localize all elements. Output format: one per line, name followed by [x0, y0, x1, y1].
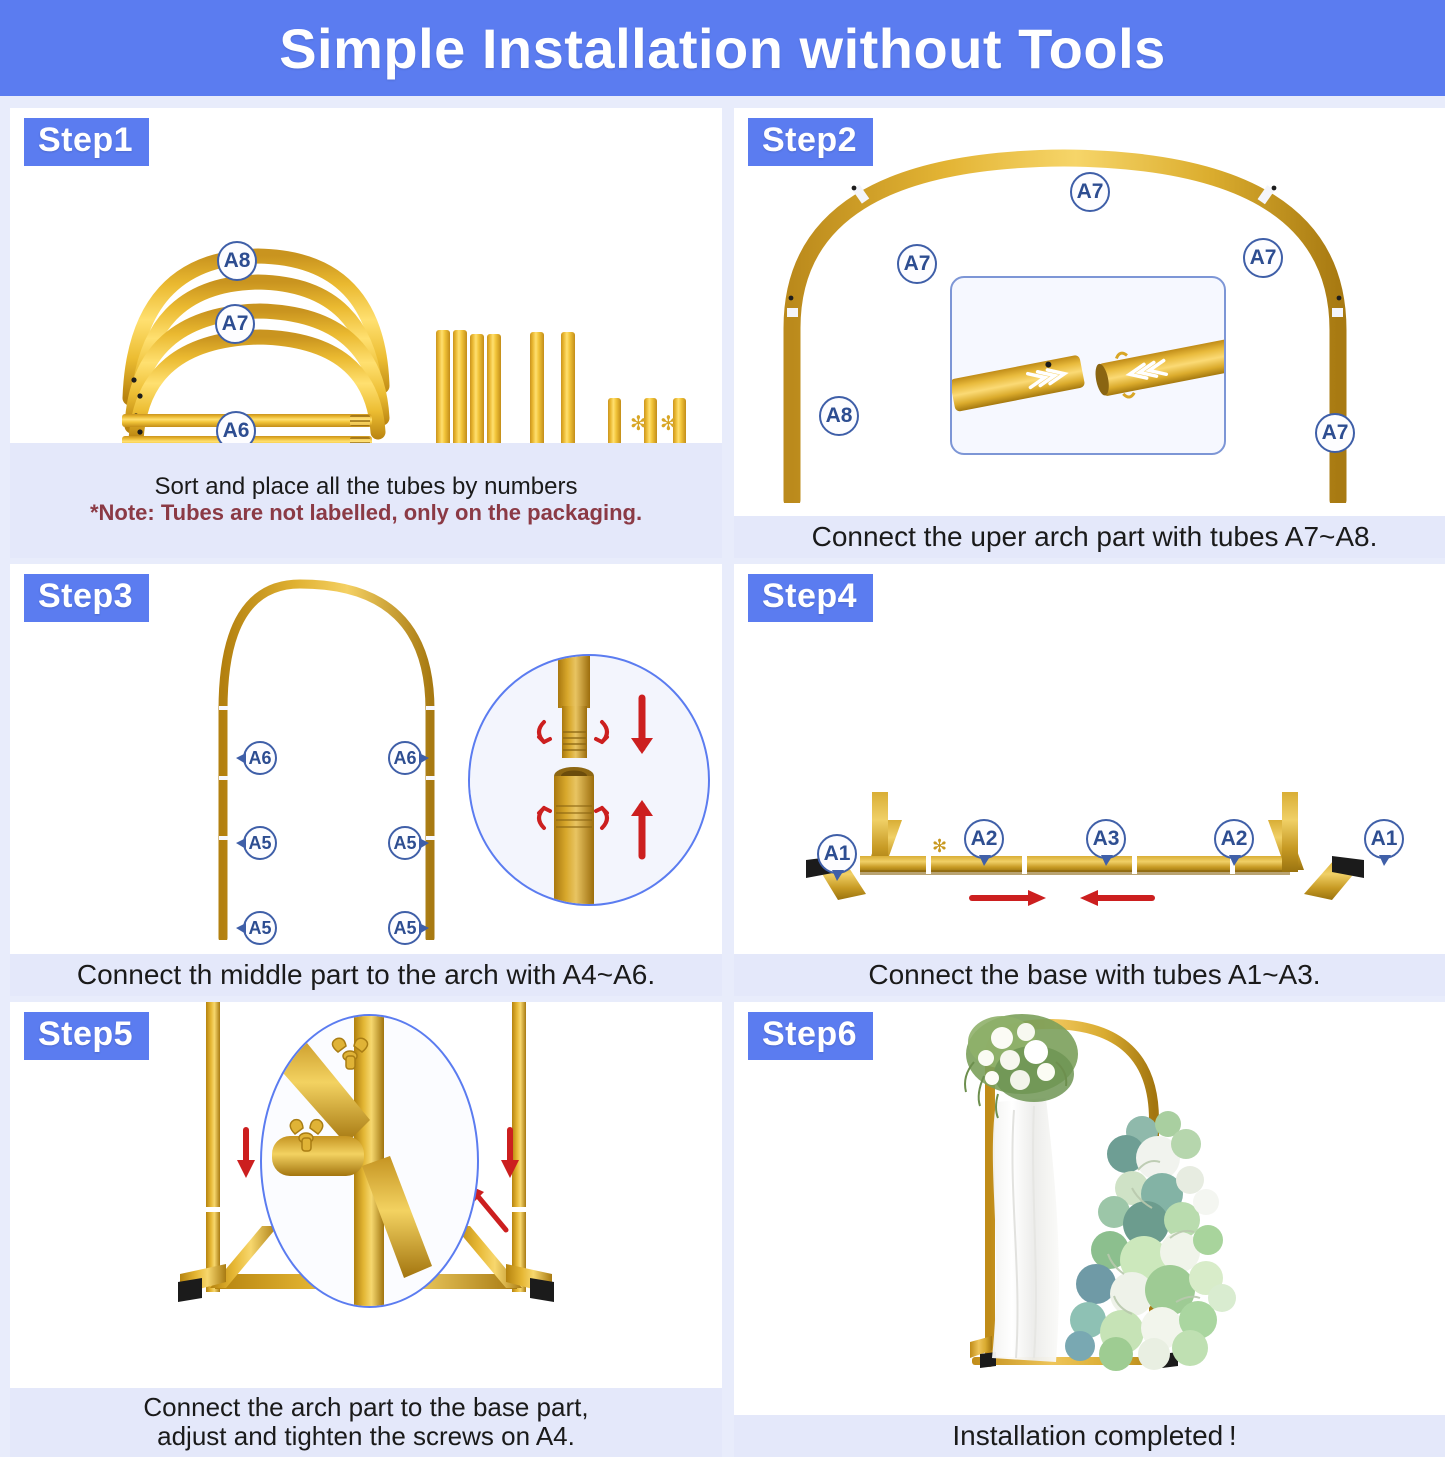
steps-grid: Step1	[0, 96, 1445, 1445]
step-badge-4: Step4	[748, 574, 873, 622]
joint-screw-inset	[260, 1014, 479, 1308]
part-label-a6: A6	[216, 411, 256, 443]
part-label-a7-lower-right: A7	[1315, 413, 1355, 453]
step-5-illustration: Step5	[10, 1002, 722, 1388]
step-caption-1: Sort and place all the tubes by numbers …	[10, 443, 722, 558]
step-caption-4: Connect the base with tubes A1~A3.	[734, 954, 1445, 996]
balloon-garland	[1065, 1111, 1236, 1371]
tube-a6-rib-1	[350, 415, 370, 426]
inset-bubble-tail	[468, 774, 475, 800]
page-title: Simple Installation without Tools	[279, 16, 1166, 81]
part-label-a2-right: A2	[1214, 819, 1254, 859]
part-label-a1-right: A1	[1364, 819, 1404, 859]
tube-join-inset	[468, 654, 710, 906]
step-2-illustration: Step2	[734, 108, 1445, 516]
svg-text:✻: ✻	[932, 836, 947, 856]
step-caption-3: Connect th middle part to the arch with …	[10, 954, 722, 996]
step-6-illustration: Step6	[734, 1002, 1445, 1415]
step-caption-1-main: Sort and place all the tubes by numbers	[155, 473, 578, 500]
tube-a5-1	[436, 330, 450, 443]
tube-connection-inset	[950, 276, 1226, 455]
step-3-illustration: Step3	[10, 564, 722, 954]
step-panel-4: Step4	[734, 564, 1445, 996]
tube-connection-diagram	[952, 278, 1224, 453]
step-panel-2: Step2	[734, 108, 1445, 558]
step-panel-6: Step6	[734, 1002, 1445, 1457]
step-badge-1: Step1	[24, 118, 149, 166]
part-label-a7-top: A7	[1070, 172, 1110, 212]
part-label-a5-left-lower: A5	[243, 911, 277, 945]
part-label-a1-left: A1	[817, 834, 857, 874]
step-caption-1-note: *Note: Tubes are not labelled, only on t…	[14, 501, 718, 526]
tube-a6-rib-2	[350, 437, 370, 443]
tube-a5-4	[487, 334, 501, 443]
step-1-illustration: Step1	[10, 108, 722, 443]
part-label-a7-left: A7	[897, 244, 937, 284]
part-label-a6-left: A6	[243, 741, 277, 775]
page-header: Simple Installation without Tools	[0, 0, 1445, 96]
step-4-illustration: Step4	[734, 564, 1445, 954]
tube-a5-3	[470, 334, 484, 443]
tube-join-diagram	[470, 656, 708, 904]
step-badge-6: Step6	[748, 1012, 873, 1060]
wing-nut-icon-a2-2: ✻	[660, 414, 677, 434]
part-label-a5-left-upper: A5	[243, 826, 277, 860]
step-badge-2: Step2	[748, 118, 873, 166]
part-label-a8: A8	[217, 241, 257, 281]
tube-a3	[608, 398, 621, 443]
step-panel-1: Step1	[10, 108, 722, 558]
part-label-a2-left: A2	[964, 819, 1004, 859]
tube-a4-1	[530, 332, 544, 443]
step-panel-5: Step5	[10, 1002, 722, 1457]
part-label-a8-left: A8	[819, 396, 859, 436]
part-label-a6-right: A6	[388, 741, 422, 775]
part-label-a7: A7	[215, 304, 255, 344]
step-caption-2: Connect the uper arch part with tubes A7…	[734, 516, 1445, 558]
step-badge-5: Step5	[24, 1012, 149, 1060]
part-label-a5-right-upper: A5	[388, 826, 422, 860]
tube-a4-2	[561, 332, 575, 443]
part-label-a3: A3	[1086, 819, 1126, 859]
joint-screw-diagram	[262, 1016, 477, 1306]
step-panel-3: Step3	[10, 564, 722, 996]
step-caption-5: Connect the arch part to the base part, …	[10, 1388, 722, 1457]
part-label-a7-right: A7	[1243, 238, 1283, 278]
step-caption-6: Installation completed !	[734, 1415, 1445, 1457]
step-badge-3: Step3	[24, 574, 149, 622]
tube-a5-2	[453, 330, 467, 443]
part-label-a5-right-lower: A5	[388, 911, 422, 945]
wing-nut-icon-a2-1: ✻	[630, 414, 647, 434]
